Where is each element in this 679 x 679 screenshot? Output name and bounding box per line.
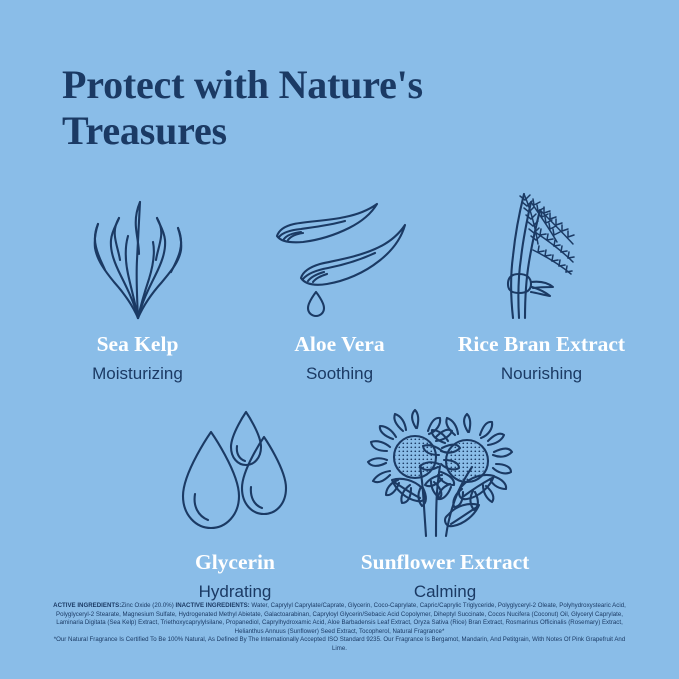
rice-bran-icon — [477, 190, 607, 320]
ingredient-name: Glycerin — [195, 549, 275, 575]
ingredient-row-bottom: Glycerin Hydrating — [130, 408, 550, 603]
ingredient-benefit: Calming — [414, 581, 476, 603]
active-ingredients-label: ACTIVE INGREDIENTS: — [53, 602, 121, 609]
ingredient-name: Aloe Vera — [294, 331, 384, 357]
ingredient-name: Sea Kelp — [97, 331, 179, 357]
inactive-ingredients-label: INACTIVE INGREDIENTS: — [175, 602, 249, 609]
page-title: Protect with Nature's Treasures — [62, 62, 582, 154]
ingredient-card-glycerin: Glycerin Hydrating — [130, 408, 340, 603]
ingredient-benefit: Moisturizing — [92, 363, 183, 385]
water-droplets-icon — [175, 408, 295, 538]
active-ingredients-value: Zinc Oxide (20.0%) — [121, 602, 175, 609]
sea-kelp-icon — [77, 190, 199, 320]
ingredient-benefit: Hydrating — [199, 581, 272, 603]
sunflower-icon — [370, 408, 520, 538]
ingredient-benefit: Soothing — [306, 363, 373, 385]
promo-panel: Protect with Nature's Treasures — [0, 0, 679, 679]
ingredient-card-sea-kelp: Sea Kelp Moisturizing — [37, 190, 239, 385]
ingredient-row-top: Sea Kelp Moisturizing — [36, 190, 643, 385]
ingredient-card-aloe-vera: Aloe Vera Soothing — [239, 190, 441, 385]
aloe-vera-icon — [265, 190, 415, 320]
ingredient-card-sunflower: Sunflower Extract Calming — [340, 408, 550, 603]
fragrance-footnote: *Our Natural Fragrance Is Certified To B… — [48, 636, 631, 653]
ingredient-name: Rice Bran Extract — [458, 331, 625, 357]
ingredient-benefit: Nourishing — [501, 363, 582, 385]
ingredient-name: Sunflower Extract — [361, 549, 530, 575]
ingredient-card-rice-bran: Rice Bran Extract Nourishing — [441, 190, 643, 385]
ingredients-fineprint: ACTIVE INGREDIENTS:Zinc Oxide (20.0%) IN… — [48, 602, 631, 654]
